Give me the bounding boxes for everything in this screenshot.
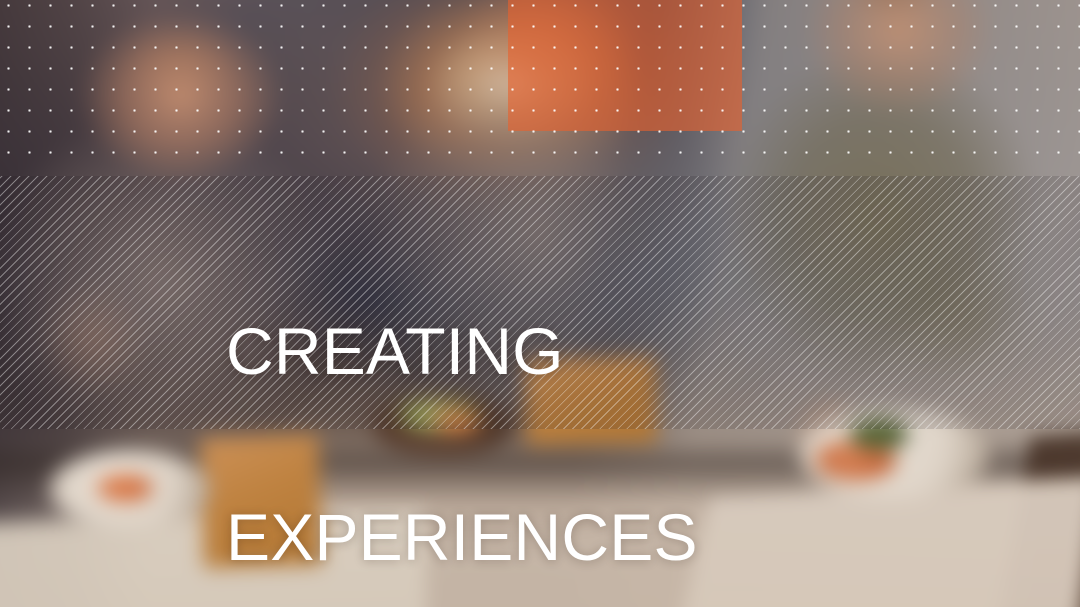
headline-line-1: CREATING bbox=[226, 320, 926, 382]
headline: CREATING EXPERIENCES AT HOME bbox=[226, 196, 926, 607]
food-left bbox=[98, 475, 152, 501]
video-slide-frame: CREATING EXPERIENCES AT HOME bbox=[0, 0, 1080, 607]
headline-line-2: EXPERIENCES bbox=[226, 506, 926, 568]
